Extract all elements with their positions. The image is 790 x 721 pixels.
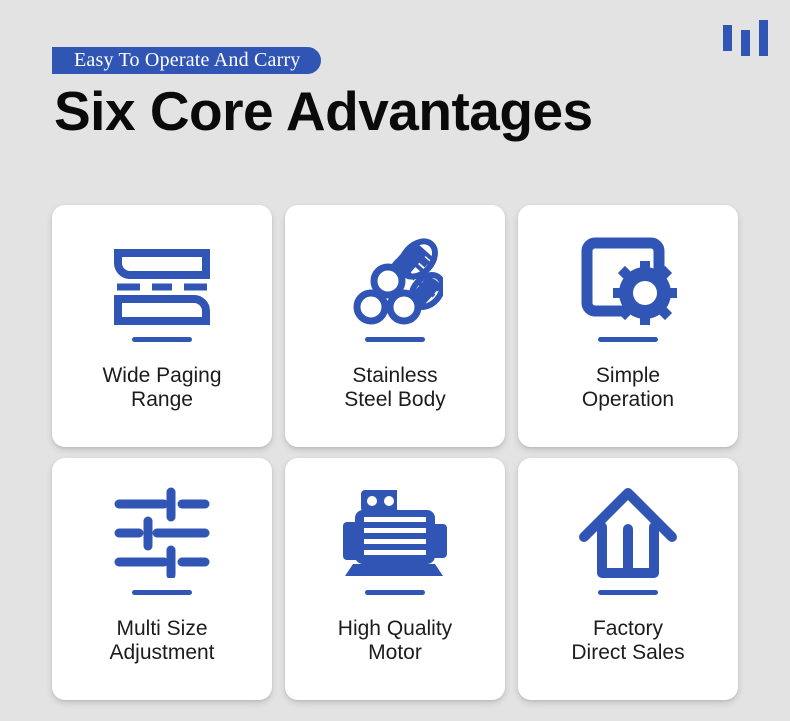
card-divider: [132, 590, 192, 595]
advantages-grid: Wide Paging Range: [52, 205, 738, 700]
advantage-label: Factory Direct Sales: [571, 617, 684, 664]
logo-bar-3: [759, 20, 768, 56]
advantage-label: Multi Size Adjustment: [109, 617, 214, 664]
advantage-label: Stainless Steel Body: [344, 364, 446, 411]
advantage-card-wide-paging-range[interactable]: Wide Paging Range: [52, 205, 272, 447]
card-divider: [598, 337, 658, 342]
advantage-card-simple-operation[interactable]: Simple Operation: [518, 205, 738, 447]
frame-gear-icon: [579, 225, 677, 333]
advantage-card-multi-size-adjustment[interactable]: Multi Size Adjustment: [52, 458, 272, 700]
advantage-card-stainless-steel-body[interactable]: Stainless Steel Body: [285, 205, 505, 447]
logo-bar-2: [741, 30, 750, 56]
card-divider: [365, 337, 425, 342]
advantage-card-high-quality-motor[interactable]: High Quality Motor: [285, 458, 505, 700]
three-bars-logo: [720, 16, 772, 60]
card-divider: [132, 337, 192, 342]
house-factory-icon: [578, 478, 678, 586]
paging-range-icon: [112, 225, 212, 333]
stacked-logs-icon: [347, 225, 443, 333]
advantage-card-factory-direct-sales[interactable]: Factory Direct Sales: [518, 458, 738, 700]
tagline-badge: Easy To Operate And Carry: [52, 47, 321, 74]
sliders-icon: [113, 478, 211, 586]
advantage-label: Wide Paging Range: [102, 364, 221, 411]
advantage-label: Simple Operation: [582, 364, 674, 411]
card-divider: [598, 590, 658, 595]
advantage-label: High Quality Motor: [338, 617, 452, 664]
page-title: Six Core Advantages: [54, 79, 593, 143]
logo-bar-1: [723, 25, 732, 51]
electric-motor-icon: [343, 478, 447, 586]
card-divider: [365, 590, 425, 595]
